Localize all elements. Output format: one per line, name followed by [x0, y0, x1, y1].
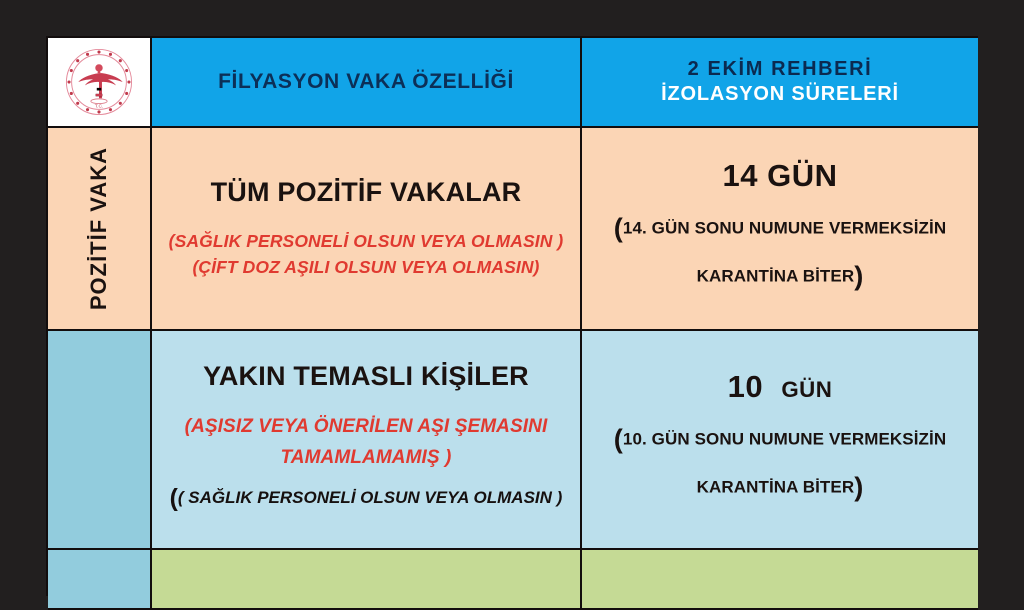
row-title: TÜM POZİTİF VAKALAR [211, 177, 522, 208]
duration-value: 10 GÜN [728, 369, 833, 405]
table-grid: T.C. FİLYASYON VAKA ÖZELLİĞİ 2 EKİM REHB… [48, 38, 976, 594]
duration-note-line2: KARANTİNA BİTER [697, 477, 855, 496]
row-positive-case-duration: 14 GÜN (14. GÜN SONU NUMUNE VERMEKSİZİN … [582, 128, 978, 331]
row-side-blank-contact [48, 331, 152, 550]
svg-text:T.C.: T.C. [95, 104, 104, 110]
row-side-blank-green [48, 550, 152, 610]
duration-note-line1: 10. GÜN SONU NUMUNE VERMEKSİZİN [623, 429, 946, 448]
paren-open: ( [614, 212, 623, 243]
ministry-of-health-logo-icon: T.C. [62, 45, 136, 119]
row-note-red-2: (ÇİFT DOZ AŞILI OLSUN VEYA OLMASIN) [192, 254, 539, 280]
row-green-feature [152, 550, 582, 610]
header-case-feature-label: FİLYASYON VAKA ÖZELLİĞİ [218, 70, 514, 94]
row-note-black-text: ( SAĞLIK PERSONELİ OLSUN VEYA OLMASIN ) [178, 488, 562, 507]
row-note-red-1: (AŞISIZ VEYA ÖNERİLEN AŞI ŞEMASINI [185, 412, 548, 442]
duration-unit: GÜN [781, 377, 832, 402]
row-positive-case-feature: TÜM POZİTİF VAKALAR (SAĞLIK PERSONELİ OL… [152, 128, 582, 331]
duration-note-line2: KARANTİNA BİTER [697, 266, 855, 285]
row-green-duration [582, 550, 978, 610]
logo-cell: T.C. [48, 38, 152, 128]
duration-note: (10. GÜN SONU NUMUNE VERMEKSİZİN KARANTİ… [614, 415, 946, 510]
header-guide: 2 EKİM REHBERİ İZOLASYON SÜRELERİ [582, 38, 978, 128]
paren-close: ) [854, 471, 863, 502]
paren-open: ( [614, 423, 623, 454]
row-note-black-1: (( SAĞLIK PERSONELİ OLSUN VEYA OLMASIN ) [170, 481, 563, 518]
duration-note-line1: 14. GÜN SONU NUMUNE VERMEKSİZİN [623, 218, 946, 237]
duration-note: (14. GÜN SONU NUMUNE VERMEKSİZİN KARANTİ… [614, 204, 946, 299]
row-note-red-1: (SAĞLIK PERSONELİ OLSUN VEYA OLMASIN ) [169, 228, 564, 254]
page-root: T.C. FİLYASYON VAKA ÖZELLİĞİ 2 EKİM REHB… [0, 0, 1024, 577]
header-guide-title: 2 EKİM REHBERİ [688, 58, 873, 81]
row-side-label-positive-case: POZİTİF VAKA [48, 128, 152, 331]
duration-value: 14 GÜN [723, 158, 838, 194]
paren-close: ) [854, 260, 863, 291]
isolation-periods-table: T.C. FİLYASYON VAKA ÖZELLİĞİ 2 EKİM REHB… [46, 36, 978, 596]
duration-number: 10 [728, 369, 763, 404]
header-case-feature: FİLYASYON VAKA ÖZELLİĞİ [152, 38, 582, 128]
row-close-contact-feature: YAKIN TEMASLI KİŞİLER (AŞISIZ VEYA ÖNERİ… [152, 331, 582, 550]
side-label-text: POZİTİF VAKA [86, 147, 112, 310]
paren-open: ( [170, 485, 178, 512]
header-guide-subtitle: İZOLASYON SÜRELERİ [661, 83, 899, 106]
row-note-red-2: TAMAMLAMAMIŞ ) [281, 443, 452, 473]
row-close-contact-duration: 10 GÜN (10. GÜN SONU NUMUNE VERMEKSİZİN … [582, 331, 978, 550]
row-title: YAKIN TEMASLI KİŞİLER [203, 361, 529, 392]
